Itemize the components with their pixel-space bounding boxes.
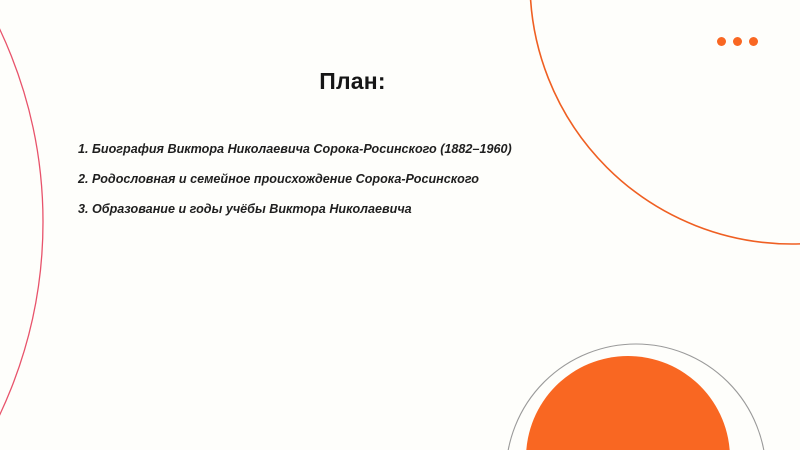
plan-list: 1. Биография Виктора Николаевича Сорока-… [78,141,530,218]
list-item: 3. Образование и годы учёбы Виктора Нико… [78,201,530,218]
list-item: 1. Биография Виктора Николаевича Сорока-… [78,141,530,158]
slide-content: План: 1. Биография Виктора Николаевича С… [0,0,800,450]
list-item: 2. Родословная и семейное происхождение … [78,171,530,188]
slide-canvas: План: 1. Биография Виктора Николаевича С… [0,0,800,450]
page-title: План: [0,68,705,95]
